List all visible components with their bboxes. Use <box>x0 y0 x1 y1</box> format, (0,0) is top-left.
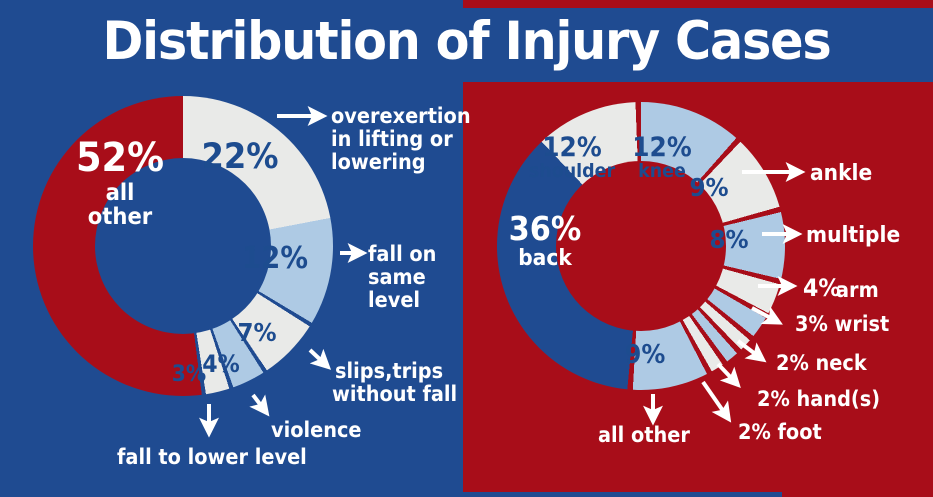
bottom-red-strip <box>782 492 933 497</box>
callout-neck: 2% neck <box>776 352 867 375</box>
slice-label-52-name-line1: all <box>60 182 180 205</box>
slice-label-knee-pct: 12% <box>623 134 700 162</box>
callout-arm-pct: 4% <box>803 276 840 302</box>
infographic-root: Distribution of Injury Cases 52% all oth… <box>0 0 933 497</box>
callout-overexertion-line3: lowering <box>331 151 426 174</box>
slice-label-22-pct: 22% <box>197 140 283 176</box>
slice-label-3-pct: 3% <box>165 364 213 386</box>
title-band: Distribution of Injury Cases <box>0 0 933 82</box>
slice-label-shoulder-pct: 12% <box>533 134 610 162</box>
callout-ankle: ankle <box>810 162 872 186</box>
callout-slips-trips-line2: without fall <box>332 383 457 406</box>
slice-label-12-pct: 12% <box>235 244 314 275</box>
callout-violence: violence <box>271 419 362 442</box>
slice-label-multiple-pct: 8% <box>700 227 759 253</box>
slice-label-ankle-pct: 9% <box>680 175 739 201</box>
slice-label-shoulder-name: shoulder <box>529 162 615 181</box>
page-title: Distribution of Injury Cases <box>33 0 901 82</box>
callout-hands: 2% hand(s) <box>757 388 880 411</box>
callout-fall-same-level-line3: level <box>368 289 420 312</box>
callout-fall-same-level-line2: same <box>368 266 426 289</box>
slice-label-52-pct: 52% <box>60 138 180 179</box>
callout-allother-right: all other <box>598 424 690 447</box>
slice-label-7-pct: 7% <box>228 320 285 346</box>
slice-label-52-name-line2: other <box>60 206 180 229</box>
callout-overexertion-line1: overexertion <box>331 105 471 128</box>
callout-foot: 2% foot <box>738 421 822 444</box>
callout-arm-name: arm <box>836 279 879 302</box>
slice-label-back-pct: 36% <box>494 212 595 246</box>
slice-label-back-name: back <box>494 248 595 270</box>
callout-multiple: multiple <box>806 224 900 248</box>
callout-fall-to-lower-level: fall to lower level <box>117 446 307 469</box>
callout-overexertion-line2: in lifting or <box>331 128 453 151</box>
callout-fall-same-level-line1: fall on <box>368 243 436 266</box>
slice-label-allother-pct: 9% <box>616 342 675 369</box>
callout-slips-trips-line1: slips,trips <box>335 360 443 383</box>
callout-wrist: 3% wrist <box>795 313 889 336</box>
